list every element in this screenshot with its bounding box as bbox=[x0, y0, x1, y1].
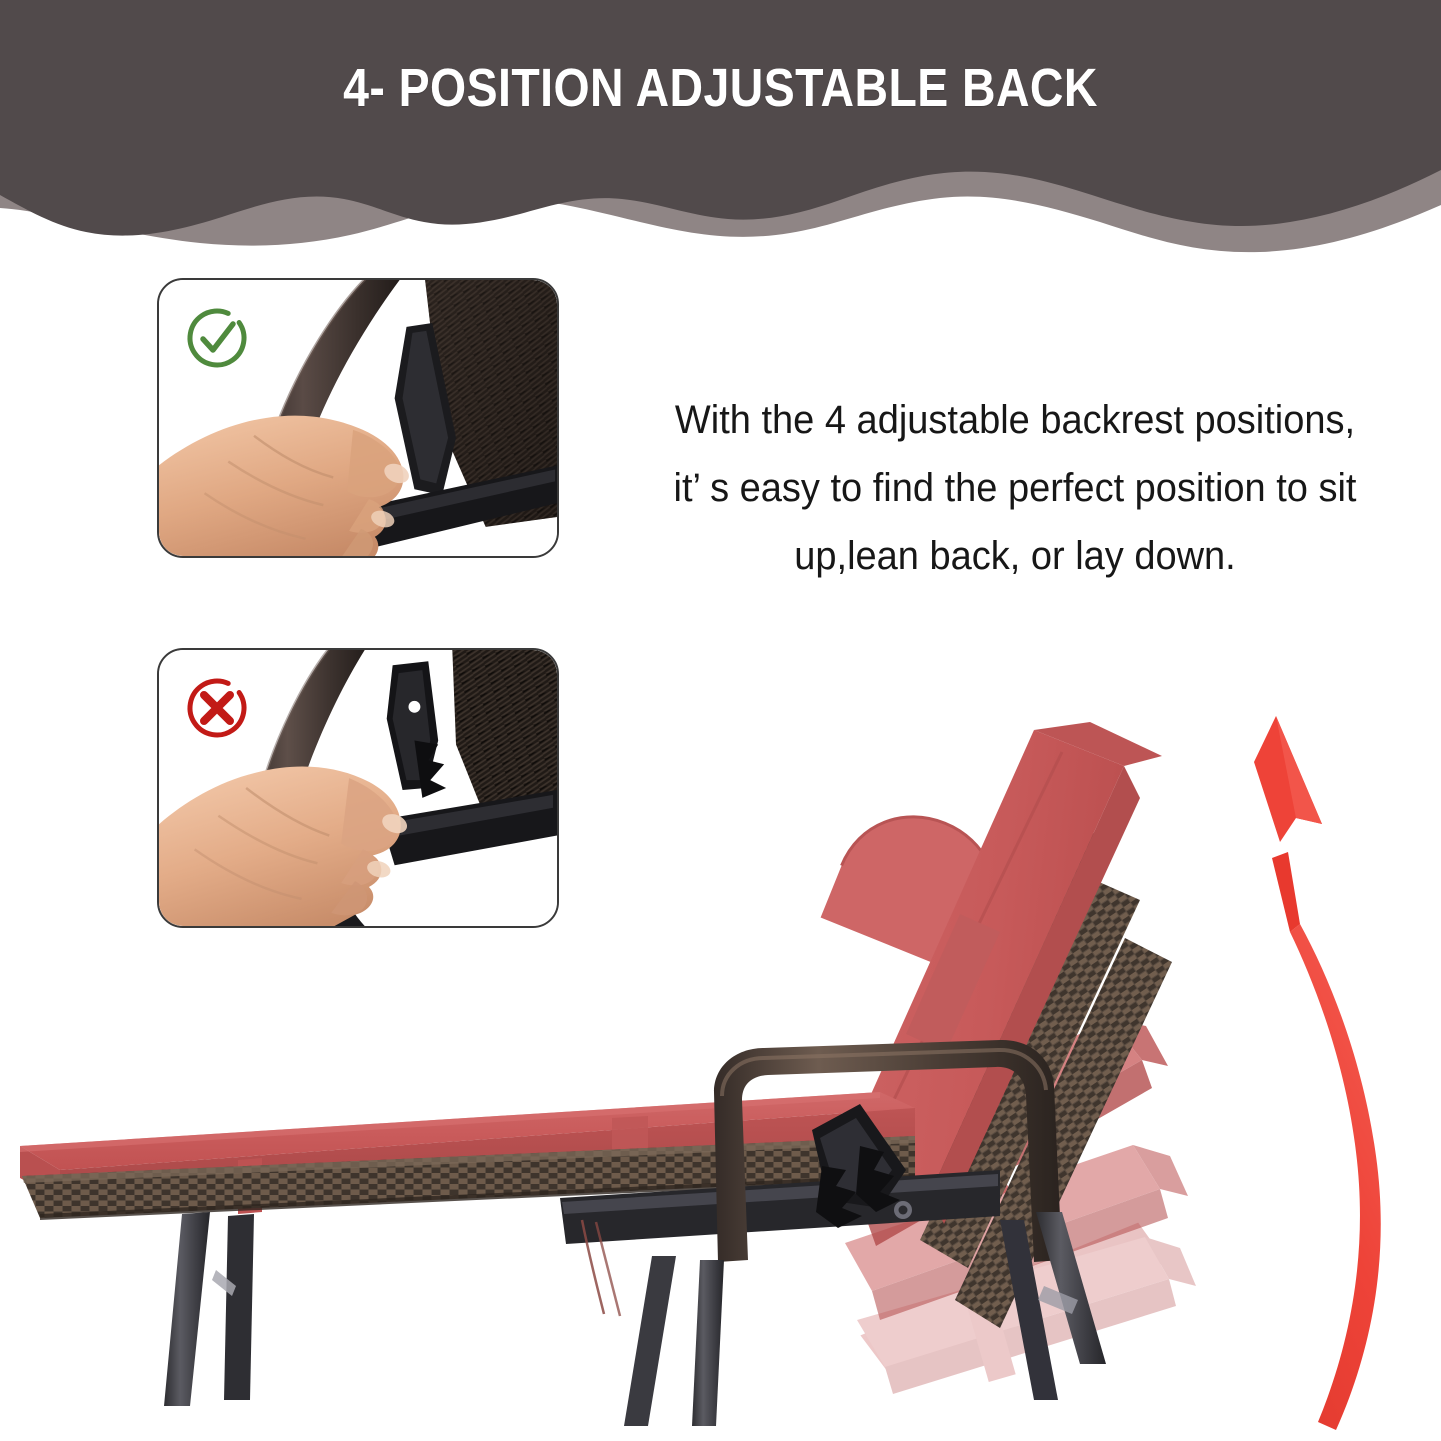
inset-photo-correct bbox=[157, 278, 559, 558]
leg-mid-front bbox=[692, 1260, 724, 1426]
description-line-3: up,lean back, or lay down. bbox=[640, 522, 1391, 590]
infographic-page: 4- POSITION ADJUSTABLE BACK bbox=[0, 0, 1441, 1441]
leg-front-left-inner bbox=[224, 1214, 254, 1400]
leg-front-left bbox=[164, 1212, 210, 1406]
product-illustration bbox=[0, 700, 1441, 1441]
description-line-1: With the 4 adjustable backrest positions… bbox=[640, 386, 1391, 454]
curved-up-arrow-icon bbox=[1254, 716, 1381, 1430]
description-text: With the 4 adjustable backrest positions… bbox=[640, 386, 1391, 590]
chaise-lounge-graphic bbox=[0, 700, 1441, 1441]
page-title: 4- POSITION ADJUSTABLE BACK bbox=[101, 57, 1340, 119]
check-circle-icon bbox=[181, 302, 253, 374]
description-line-2: it’ s easy to find the perfect position … bbox=[640, 454, 1391, 522]
header-banner: 4- POSITION ADJUSTABLE BACK bbox=[0, 0, 1441, 270]
header-wave-graphic bbox=[0, 0, 1441, 270]
leg-mid-rear bbox=[624, 1256, 676, 1426]
cross-circle-icon bbox=[181, 672, 253, 744]
